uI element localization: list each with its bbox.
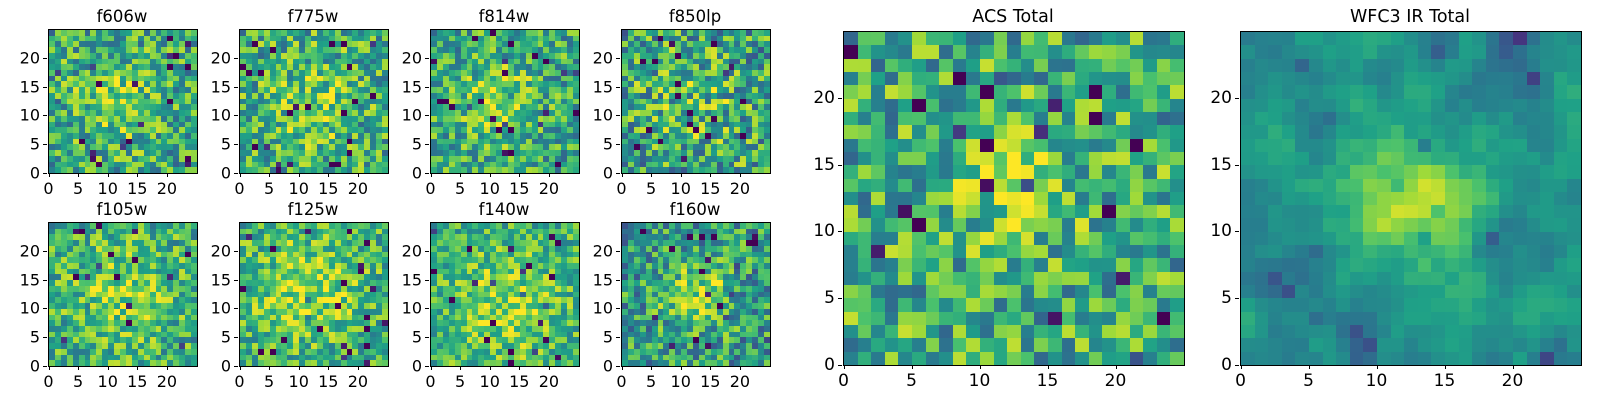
y-tick	[43, 144, 47, 145]
x-tick-label: 15	[318, 372, 338, 391]
x-tick	[549, 173, 550, 177]
y-tick-label: 15	[0, 270, 40, 289]
x-tick	[651, 173, 652, 177]
x-tick-label: 5	[264, 179, 274, 198]
y-tick-label: 0	[191, 356, 231, 375]
y-tick-label: 20	[0, 49, 40, 68]
x-tick-label: 20	[157, 179, 177, 198]
y-tick	[425, 173, 429, 174]
y-tick-label: 0	[382, 356, 422, 375]
panel-f814w: f814w0510152005101520	[430, 29, 578, 172]
x-tick	[299, 366, 300, 370]
panel-f105w: f105w0510152005101520	[48, 222, 196, 365]
x-tick	[78, 173, 79, 177]
panel-f125w: f125w0510152005101520	[239, 222, 387, 365]
y-tick	[234, 337, 238, 338]
y-tick	[43, 366, 47, 367]
x-tick	[108, 366, 109, 370]
x-tick	[269, 366, 270, 370]
heatmap-axes-f606w	[48, 29, 198, 174]
x-tick-label: 0	[43, 179, 53, 198]
panel-f160w: f160w0510152005101520	[621, 222, 769, 365]
x-tick-label: 15	[318, 179, 338, 198]
y-tick-label: 15	[191, 270, 231, 289]
y-tick-label: 0	[573, 163, 613, 182]
y-tick	[425, 337, 429, 338]
panel-f140w: f140w0510152005101520	[430, 222, 578, 365]
x-tick	[269, 173, 270, 177]
x-tick	[78, 366, 79, 370]
x-tick-label: 20	[348, 372, 368, 391]
y-tick	[43, 87, 47, 88]
x-tick	[240, 173, 241, 177]
heatmap-axes-f140w	[430, 222, 580, 367]
heatmap-image-f775w	[240, 30, 388, 173]
x-tick	[710, 173, 711, 177]
y-tick-label: 20	[573, 49, 613, 68]
y-tick	[234, 144, 238, 145]
x-tick	[108, 173, 109, 177]
x-tick	[549, 366, 550, 370]
x-tick-label: 10	[98, 372, 118, 391]
y-tick-label: 0	[382, 163, 422, 182]
panel-f606w: f606w0510152005101520	[48, 29, 196, 172]
y-tick	[43, 337, 47, 338]
panel-title-f160w: f160w	[621, 200, 769, 219]
heatmap-axes-f814w	[430, 29, 580, 174]
x-tick	[460, 173, 461, 177]
y-tick-label: 15	[382, 77, 422, 96]
x-tick	[460, 366, 461, 370]
x-tick-label: 10	[289, 372, 309, 391]
y-tick-label: 20	[0, 242, 40, 261]
x-tick	[622, 173, 623, 177]
y-tick	[616, 58, 620, 59]
heatmap-image-f850lp	[622, 30, 770, 173]
x-tick-label: 20	[539, 372, 559, 391]
y-tick	[43, 58, 47, 59]
x-tick-label: 15	[127, 179, 147, 198]
x-tick-label: 0	[616, 179, 626, 198]
y-tick	[234, 251, 238, 252]
x-tick-label: 10	[480, 179, 500, 198]
y-tick	[234, 58, 238, 59]
x-tick	[49, 366, 50, 370]
y-tick-label: 5	[382, 327, 422, 346]
x-tick-label: 15	[700, 179, 720, 198]
x-tick	[681, 173, 682, 177]
x-tick	[431, 366, 432, 370]
x-tick-label: 0	[234, 179, 244, 198]
y-tick	[425, 115, 429, 116]
x-tick-label: 15	[509, 179, 529, 198]
y-tick-label: 5	[191, 134, 231, 153]
y-tick-label: 5	[191, 327, 231, 346]
x-tick-label: 15	[127, 372, 147, 391]
x-tick	[490, 366, 491, 370]
x-tick	[299, 173, 300, 177]
x-tick	[490, 173, 491, 177]
x-tick-label: 0	[425, 179, 435, 198]
heatmap-axes-f775w	[239, 29, 389, 174]
x-tick	[358, 366, 359, 370]
y-tick-label: 20	[382, 242, 422, 261]
y-tick-label: 0	[191, 163, 231, 182]
y-tick	[616, 115, 620, 116]
y-tick-label: 0	[0, 356, 40, 375]
y-tick-label: 5	[382, 134, 422, 153]
y-tick	[425, 366, 429, 367]
y-tick	[425, 144, 429, 145]
heatmap-image-f160w	[622, 223, 770, 366]
heatmap-axes-f125w	[239, 222, 389, 367]
panel-title-f105w: f105w	[48, 200, 196, 219]
x-tick-label: 10	[98, 179, 118, 198]
x-tick	[167, 366, 168, 370]
heatmap-image-f125w	[240, 223, 388, 366]
y-tick-label: 0	[0, 163, 40, 182]
panel-title-f775w: f775w	[239, 7, 387, 26]
panel-f850lp: f850lp0510152005101520	[621, 29, 769, 172]
x-tick-label: 10	[289, 179, 309, 198]
y-tick	[425, 87, 429, 88]
x-tick-label: 20	[730, 179, 750, 198]
heatmap-axes-f850lp	[621, 29, 771, 174]
x-tick-label: 15	[509, 372, 529, 391]
x-tick-label: 5	[73, 372, 83, 391]
x-tick-label: 5	[264, 372, 274, 391]
x-tick	[328, 366, 329, 370]
x-tick-label: 0	[43, 372, 53, 391]
panel-title-f125w: f125w	[239, 200, 387, 219]
y-tick	[425, 280, 429, 281]
x-tick-label: 20	[157, 372, 177, 391]
x-tick	[328, 173, 329, 177]
figure-canvas: f606w0510152005101520f775w05101520051015…	[0, 0, 1600, 400]
y-tick-label: 10	[0, 299, 40, 318]
panel-title-f606w: f606w	[48, 7, 196, 26]
x-tick	[358, 173, 359, 177]
x-tick-label: 10	[480, 372, 500, 391]
y-tick-label: 20	[191, 49, 231, 68]
x-tick-label: 5	[455, 372, 465, 391]
x-tick-label: 20	[348, 179, 368, 198]
panel-title-f814w: f814w	[430, 7, 578, 26]
y-tick-label: 5	[0, 134, 40, 153]
y-tick-label: 20	[382, 49, 422, 68]
heatmap-image-f105w	[49, 223, 197, 366]
x-tick	[240, 366, 241, 370]
y-tick-label: 10	[191, 299, 231, 318]
y-tick-label: 15	[573, 77, 613, 96]
y-tick-label: 15	[0, 77, 40, 96]
y-tick-label: 10	[382, 299, 422, 318]
y-tick-label: 10	[0, 106, 40, 125]
y-tick	[425, 251, 429, 252]
y-tick	[234, 280, 238, 281]
y-tick-label: 10	[191, 106, 231, 125]
x-tick	[431, 173, 432, 177]
y-tick	[234, 308, 238, 309]
x-tick-label: 5	[646, 179, 656, 198]
panel-title-f850lp: f850lp	[621, 7, 769, 26]
y-tick	[234, 366, 238, 367]
y-tick-label: 5	[0, 327, 40, 346]
heatmap-cell	[764, 167, 770, 173]
x-tick-label: 20	[539, 179, 559, 198]
heatmap-image-f814w	[431, 30, 579, 173]
y-tick	[616, 173, 620, 174]
y-tick	[43, 115, 47, 116]
heatmap-axes-f160w	[621, 222, 771, 367]
x-tick	[137, 366, 138, 370]
x-tick	[740, 173, 741, 177]
y-tick	[43, 173, 47, 174]
heatmap-image-f606w	[49, 30, 197, 173]
panel-f775w: f775w0510152005101520	[239, 29, 387, 172]
y-tick-label: 20	[191, 242, 231, 261]
y-tick-label: 15	[191, 77, 231, 96]
panel-title-f140w: f140w	[430, 200, 578, 219]
y-tick	[234, 173, 238, 174]
x-tick-label: 0	[425, 372, 435, 391]
y-tick-label: 15	[382, 270, 422, 289]
y-tick	[616, 87, 620, 88]
y-tick-label: 10	[573, 106, 613, 125]
y-tick	[234, 87, 238, 88]
y-tick	[616, 144, 620, 145]
y-tick	[43, 280, 47, 281]
x-tick	[519, 366, 520, 370]
x-tick-label: 5	[73, 179, 83, 198]
heatmap-image-f140w	[431, 223, 579, 366]
y-tick-label: 5	[573, 134, 613, 153]
x-tick	[49, 173, 50, 177]
y-tick-label: 10	[382, 106, 422, 125]
x-tick-label: 0	[234, 372, 244, 391]
x-tick	[137, 173, 138, 177]
x-tick-label: 5	[455, 179, 465, 198]
y-tick	[425, 308, 429, 309]
heatmap-axes-f105w	[48, 222, 198, 367]
y-tick	[425, 58, 429, 59]
y-tick	[43, 251, 47, 252]
y-tick	[234, 115, 238, 116]
x-tick	[519, 173, 520, 177]
x-tick	[167, 173, 168, 177]
y-tick	[43, 308, 47, 309]
x-tick-label: 10	[671, 179, 691, 198]
